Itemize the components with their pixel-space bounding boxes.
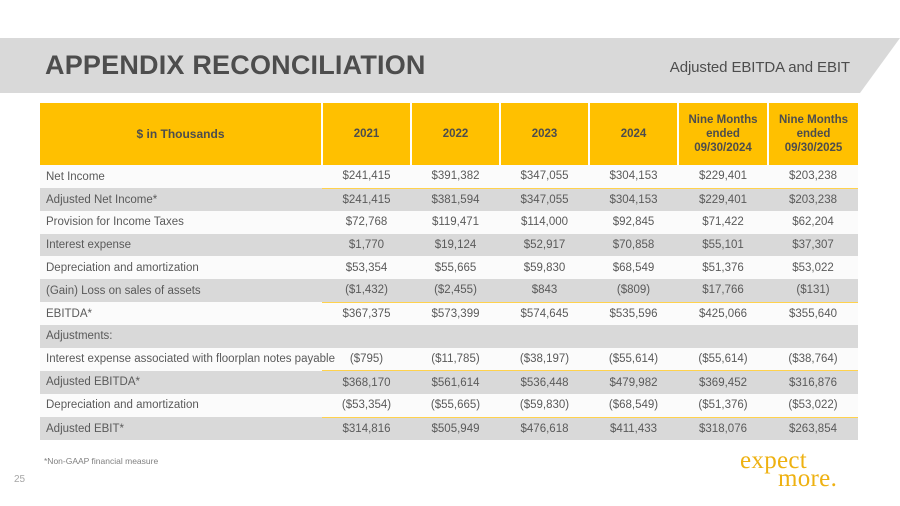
brand-logo: expect more. bbox=[740, 448, 870, 500]
table-cell: $72,768 bbox=[322, 211, 411, 234]
column-header-line3: 09/30/2025 bbox=[785, 142, 843, 154]
table-cell: $62,204 bbox=[768, 211, 858, 234]
table-cell: $536,448 bbox=[500, 371, 589, 394]
table-cell: ($131) bbox=[768, 279, 858, 302]
table-cell bbox=[589, 325, 678, 348]
table-cell: ($53,354) bbox=[322, 394, 411, 417]
table-cell: $52,917 bbox=[500, 234, 589, 257]
table-cell: $19,124 bbox=[411, 234, 500, 257]
table-cell: $505,949 bbox=[411, 417, 500, 440]
table-cell: $53,022 bbox=[768, 256, 858, 279]
table-cell: $476,618 bbox=[500, 417, 589, 440]
table-cell: ($55,614) bbox=[678, 348, 768, 371]
table-cell: ($38,764) bbox=[768, 348, 858, 371]
table-cell: $843 bbox=[500, 279, 589, 302]
table-cell: ($795) bbox=[322, 348, 411, 371]
table-cell: $68,549 bbox=[589, 256, 678, 279]
table-cell: $304,153 bbox=[589, 165, 678, 188]
table-cell: $263,854 bbox=[768, 417, 858, 440]
row-label: Adjustments: bbox=[40, 325, 322, 348]
table-cell: $391,382 bbox=[411, 165, 500, 188]
table-cell: $59,830 bbox=[500, 256, 589, 279]
table-cell: $535,596 bbox=[589, 302, 678, 325]
table-row: Adjustments: bbox=[40, 325, 858, 348]
table-header: $ in Thousands 2021 2022 2023 2024 Nine … bbox=[40, 103, 858, 165]
row-label: EBITDA* bbox=[40, 302, 322, 325]
column-header-nine-months-2025: Nine Months ended 09/30/2025 bbox=[768, 103, 858, 165]
table-cell: $314,816 bbox=[322, 417, 411, 440]
table-cell: $411,433 bbox=[589, 417, 678, 440]
row-label: Depreciation and amortization bbox=[40, 394, 322, 417]
table-row: (Gain) Loss on sales of assets($1,432)($… bbox=[40, 279, 858, 302]
table-cell: $92,845 bbox=[589, 211, 678, 234]
page-number: 25 bbox=[14, 474, 25, 485]
header-subtitle: Adjusted EBITDA and EBIT bbox=[670, 59, 850, 76]
row-label: Interest expense bbox=[40, 234, 322, 257]
column-header-line2: ended bbox=[797, 128, 831, 140]
table-cell: ($2,455) bbox=[411, 279, 500, 302]
table-cell: $316,876 bbox=[768, 371, 858, 394]
table-cell: ($55,614) bbox=[589, 348, 678, 371]
table-row: Net Income$241,415$391,382$347,055$304,1… bbox=[40, 165, 858, 188]
table-cell: $241,415 bbox=[322, 165, 411, 188]
reconciliation-table: $ in Thousands 2021 2022 2023 2024 Nine … bbox=[40, 103, 858, 440]
table-cell: $17,766 bbox=[678, 279, 768, 302]
table-cell: $304,153 bbox=[589, 188, 678, 211]
row-label: Adjusted Net Income* bbox=[40, 188, 322, 211]
table-cell bbox=[322, 325, 411, 348]
table-cell: $37,307 bbox=[768, 234, 858, 257]
brand-logo-line2: more. bbox=[778, 466, 837, 491]
page-title: APPENDIX RECONCILIATION bbox=[45, 48, 426, 82]
table-cell: $369,452 bbox=[678, 371, 768, 394]
table-cell bbox=[768, 325, 858, 348]
table-cell: $203,238 bbox=[768, 165, 858, 188]
table-row: EBITDA*$367,375$573,399$574,645$535,596$… bbox=[40, 302, 858, 325]
table-cell: $51,376 bbox=[678, 256, 768, 279]
table-row: Depreciation and amortization$53,354$55,… bbox=[40, 256, 858, 279]
column-header-line1: Nine Months bbox=[779, 114, 848, 126]
table-row: Interest expense$1,770$19,124$52,917$70,… bbox=[40, 234, 858, 257]
row-label: Provision for Income Taxes bbox=[40, 211, 322, 234]
table-row: Adjusted EBITDA*$368,170$561,614$536,448… bbox=[40, 371, 858, 394]
table-cell: $55,101 bbox=[678, 234, 768, 257]
table-cell: $70,858 bbox=[589, 234, 678, 257]
table-cell: ($809) bbox=[589, 279, 678, 302]
row-label: Interest expense associated with floorpl… bbox=[40, 348, 322, 371]
table-cell: $368,170 bbox=[322, 371, 411, 394]
column-header-line2: ended bbox=[706, 128, 740, 140]
table-cell: $241,415 bbox=[322, 188, 411, 211]
column-header-2024: 2024 bbox=[589, 103, 678, 165]
table-cell: $561,614 bbox=[411, 371, 500, 394]
table-cell: $381,594 bbox=[411, 188, 500, 211]
table-row: Interest expense associated with floorpl… bbox=[40, 348, 858, 371]
table-cell: $367,375 bbox=[322, 302, 411, 325]
row-label: (Gain) Loss on sales of assets bbox=[40, 279, 322, 302]
table-cell bbox=[500, 325, 589, 348]
row-label: Net Income bbox=[40, 165, 322, 188]
table-cell: ($55,665) bbox=[411, 394, 500, 417]
table-cell: ($59,830) bbox=[500, 394, 589, 417]
table-cell: ($53,022) bbox=[768, 394, 858, 417]
table-cell: $574,645 bbox=[500, 302, 589, 325]
table-body: Net Income$241,415$391,382$347,055$304,1… bbox=[40, 165, 858, 440]
table-cell: $479,982 bbox=[589, 371, 678, 394]
table-cell: ($1,432) bbox=[322, 279, 411, 302]
column-header-2022: 2022 bbox=[411, 103, 500, 165]
table-cell: ($38,197) bbox=[500, 348, 589, 371]
row-label: Adjusted EBITDA* bbox=[40, 371, 322, 394]
table-cell: ($11,785) bbox=[411, 348, 500, 371]
row-label: Depreciation and amortization bbox=[40, 256, 322, 279]
column-header-2021: 2021 bbox=[322, 103, 411, 165]
table-row: Adjusted Net Income*$241,415$381,594$347… bbox=[40, 188, 858, 211]
table-cell: ($68,549) bbox=[589, 394, 678, 417]
column-header-label: $ in Thousands bbox=[40, 103, 322, 165]
table-cell: $119,471 bbox=[411, 211, 500, 234]
table-cell: $55,665 bbox=[411, 256, 500, 279]
table-cell bbox=[678, 325, 768, 348]
table-cell: $229,401 bbox=[678, 165, 768, 188]
table-row: Depreciation and amortization($53,354)($… bbox=[40, 394, 858, 417]
table-cell: $573,399 bbox=[411, 302, 500, 325]
table-row: Provision for Income Taxes$72,768$119,47… bbox=[40, 211, 858, 234]
column-header-line3: 09/30/2024 bbox=[694, 142, 752, 154]
footnote: *Non-GAAP financial measure bbox=[44, 456, 158, 466]
table-cell: $203,238 bbox=[768, 188, 858, 211]
column-header-line1: Nine Months bbox=[689, 114, 758, 126]
table-cell bbox=[411, 325, 500, 348]
table-cell: $114,000 bbox=[500, 211, 589, 234]
table-cell: $425,066 bbox=[678, 302, 768, 325]
table-cell: $347,055 bbox=[500, 188, 589, 211]
table-cell: $318,076 bbox=[678, 417, 768, 440]
table-cell: $355,640 bbox=[768, 302, 858, 325]
table-cell: $71,422 bbox=[678, 211, 768, 234]
table-cell: $53,354 bbox=[322, 256, 411, 279]
row-label: Adjusted EBIT* bbox=[40, 417, 322, 440]
column-header-2023: 2023 bbox=[500, 103, 589, 165]
table-row: Adjusted EBIT*$314,816$505,949$476,618$4… bbox=[40, 417, 858, 440]
column-header-nine-months-2024: Nine Months ended 09/30/2024 bbox=[678, 103, 768, 165]
table-header-row: $ in Thousands 2021 2022 2023 2024 Nine … bbox=[40, 103, 858, 165]
table-cell: $229,401 bbox=[678, 188, 768, 211]
table-cell: ($51,376) bbox=[678, 394, 768, 417]
table-cell: $1,770 bbox=[322, 234, 411, 257]
table-cell: $347,055 bbox=[500, 165, 589, 188]
